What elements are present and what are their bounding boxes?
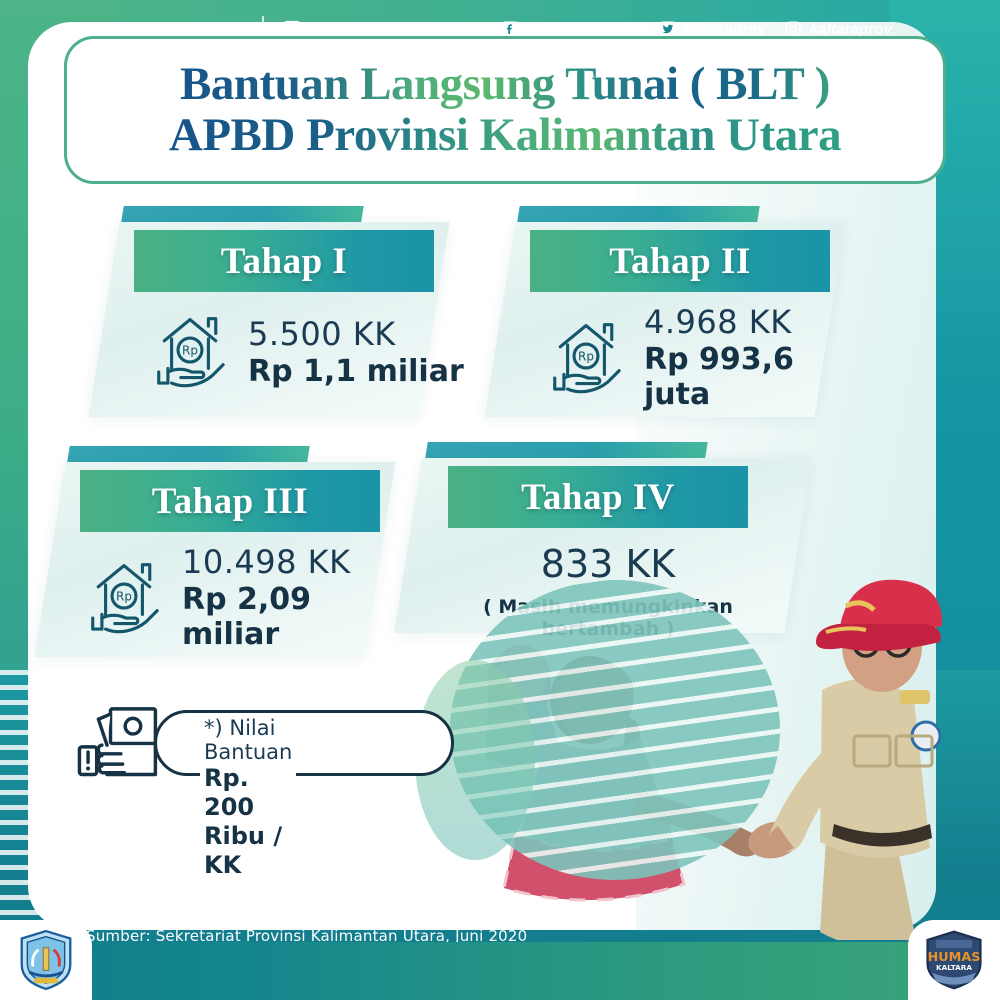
footer-facebook-label: pemprovkaltara (527, 21, 640, 38)
stage-households-1: 5.500 KK (248, 316, 464, 354)
title-line-1: Bantuan Langsung Tunai ( BLT ) (180, 59, 830, 110)
footer-bar (0, 942, 1000, 1000)
stage-values-2: 4.968 KK Rp 993,6 juta (644, 304, 860, 413)
svg-text:Rp: Rp (578, 349, 594, 363)
kalimantan-utara-provincial-seal (0, 920, 92, 1000)
stage-amount-3: Rp 2,09 miliar (182, 582, 410, 653)
humas-kaltara-shield-logo: HUMAS KALTARA (908, 920, 1000, 1000)
svg-text:Rp: Rp (182, 344, 198, 358)
footer-twitter-label: kaltaraprov (684, 21, 766, 38)
house-rupiah-in-hand-icon: Rp (540, 310, 632, 407)
value-note-line-2: Rp. 200 Ribu / KK (204, 764, 292, 879)
footer-instagram-label: kaltaraprov (810, 21, 892, 38)
stage-card-tahap-3: Tahap III Rp 10.498 KK Rp 2,09 miliar (50, 462, 410, 652)
stage-card-tahap-1: Tahap I Rp 5.500 KK Rp 1,1 miliar (104, 222, 464, 412)
footer-website-label: humas.kaltaraprov.go.id (308, 21, 483, 38)
stage-amount-1: Rp 1,1 miliar (248, 354, 464, 389)
stage-households-2: 4.968 KK (644, 304, 860, 342)
footer-brand: infopubdok kaltara (108, 21, 244, 38)
stage-values-3: 10.498 KK Rp 2,09 miliar (182, 544, 410, 653)
value-note-badge: *) Nilai Bantuan Rp. 200 Ribu / KK (72, 702, 168, 789)
value-note-pill (154, 710, 454, 776)
house-rupiah-in-hand-icon: Rp (78, 550, 170, 647)
money-in-hand-alert-icon (72, 702, 168, 789)
svg-text:KALTARA: KALTARA (936, 963, 972, 972)
svg-text:Rp: Rp (116, 589, 132, 603)
stage-card-tahap-2: Tahap II Rp 4.968 KK Rp 993,6 juta (500, 222, 860, 412)
stage-body-1: Rp 5.500 KK Rp 1,1 miliar (144, 304, 464, 401)
stage-values-1: 5.500 KK Rp 1,1 miliar (248, 316, 464, 389)
stage-banner-4: Tahap IV (448, 466, 748, 528)
page-title: Bantuan Langsung Tunai ( BLT ) APBD Prov… (64, 36, 946, 184)
house-rupiah-in-hand-icon: Rp (144, 304, 236, 401)
stage-banner-1: Tahap I (134, 230, 434, 292)
official-handshake-photo (430, 540, 950, 940)
value-note-text: *) Nilai Bantuan Rp. 200 Ribu / KK (200, 716, 296, 879)
value-note-line-1: *) Nilai Bantuan (204, 716, 292, 764)
stage-banner-2: Tahap II (530, 230, 830, 292)
stage-body-3: Rp 10.498 KK Rp 2,09 miliar (78, 544, 410, 653)
stage-banner-3: Tahap III (80, 470, 380, 532)
stage-households-3: 10.498 KK (182, 544, 410, 582)
stage-amount-2: Rp 993,6 juta (644, 342, 860, 413)
stage-body-2: Rp 4.968 KK Rp 993,6 juta (540, 304, 860, 413)
title-line-2: APBD Provinsi Kalimantan Utara (169, 110, 841, 161)
